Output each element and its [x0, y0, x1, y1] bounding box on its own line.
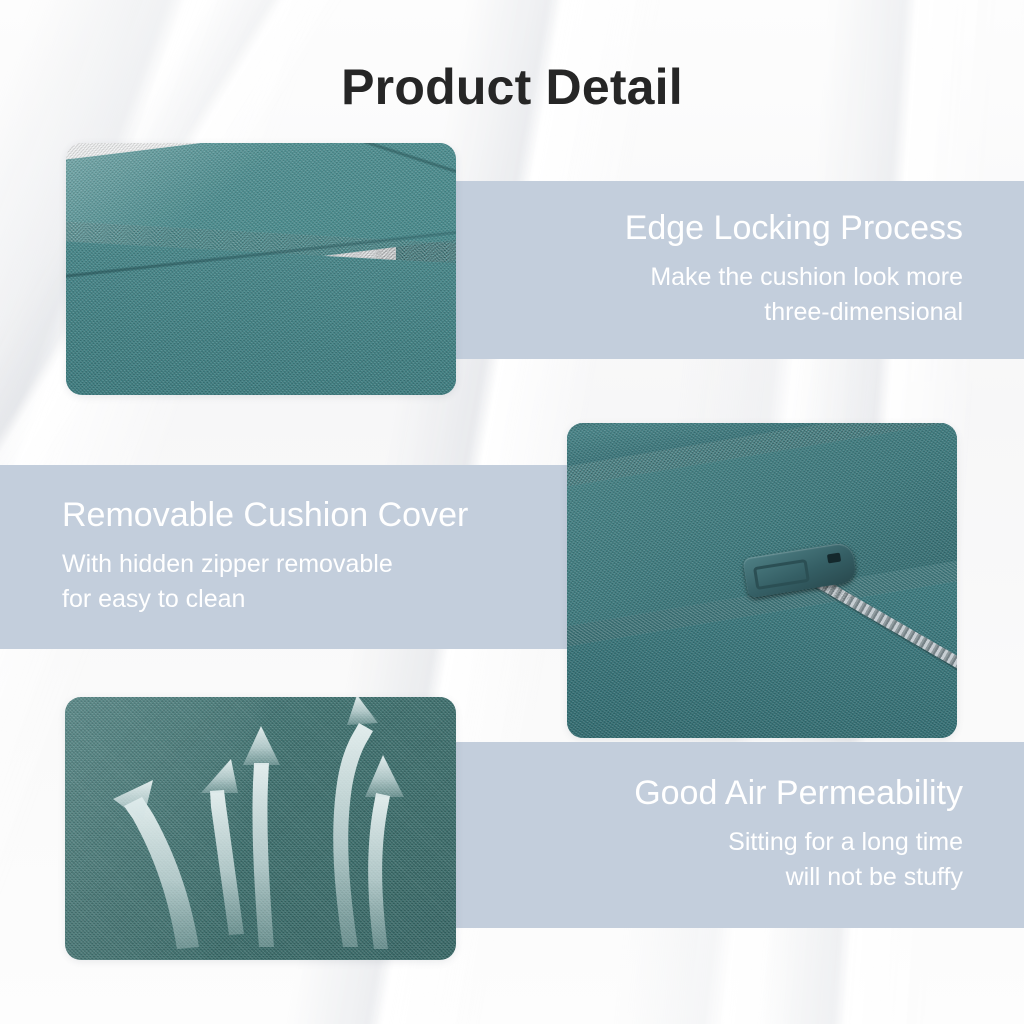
cushion-front-face	[66, 238, 456, 395]
feature-band-removable-cover: Removable Cushion Cover With hidden zipp…	[0, 465, 585, 649]
zipper-slider-hole	[827, 553, 841, 564]
airflow-arrow-icon	[113, 780, 199, 949]
page-title: Product Detail	[0, 58, 1024, 116]
feature-heading-removable-cover: Removable Cushion Cover	[62, 496, 468, 535]
subtitle-line: will not be stuffy	[728, 860, 963, 896]
subtitle-line: for easy to clean	[62, 582, 393, 618]
feature-photo-edge-locking	[66, 143, 456, 395]
zipper-pull	[753, 559, 810, 590]
airflow-arrow-icon	[243, 726, 280, 947]
product-detail-infographic: Product Detail Edge Locking Process Make…	[0, 0, 1024, 1024]
feature-subtitle-edge-locking: Make the cushion look more three-dimensi…	[650, 260, 963, 331]
feature-heading-edge-locking: Edge Locking Process	[625, 209, 963, 248]
subtitle-line: Make the cushion look more	[650, 260, 963, 296]
subtitle-line: three-dimensional	[650, 295, 963, 331]
feature-band-air-permeability: Good Air Permeability Sitting for a long…	[440, 742, 1024, 928]
feature-heading-air-permeability: Good Air Permeability	[634, 774, 963, 813]
feature-subtitle-removable-cover: With hidden zipper removable for easy to…	[62, 547, 393, 618]
subtitle-line: With hidden zipper removable	[62, 547, 393, 583]
feature-photo-air-permeability	[65, 697, 456, 960]
feature-photo-removable-cover	[567, 423, 957, 738]
feature-band-edge-locking: Edge Locking Process Make the cushion lo…	[456, 181, 1024, 359]
airflow-arrow-icon	[201, 759, 244, 935]
airflow-arrow-icon	[365, 755, 404, 949]
airflow-arrows-group	[65, 697, 456, 960]
subtitle-line: Sitting for a long time	[728, 825, 963, 861]
feature-subtitle-air-permeability: Sitting for a long time will not be stuf…	[728, 825, 963, 896]
